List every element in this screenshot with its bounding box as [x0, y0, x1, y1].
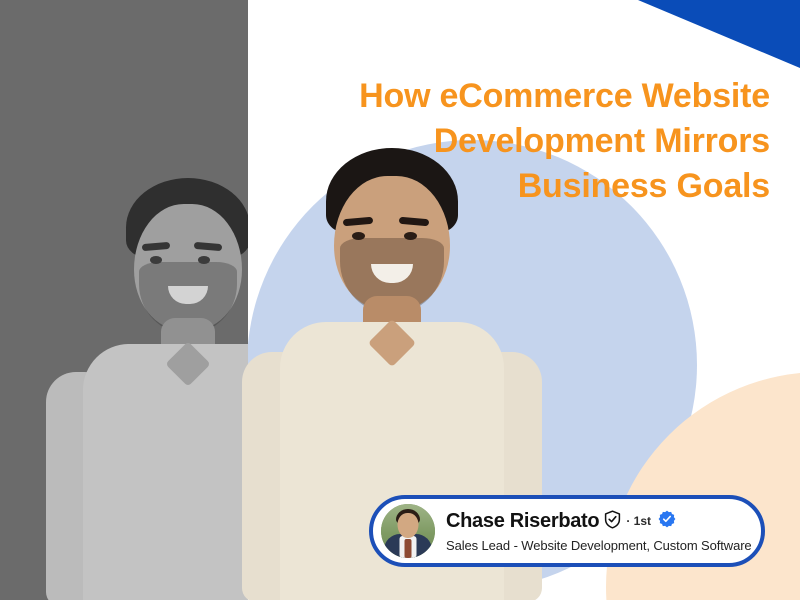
eye-right: [404, 232, 417, 240]
avatar-tie: [405, 539, 412, 558]
profile-name: Chase Riserbato: [446, 511, 599, 531]
profile-card[interactable]: Chase Riserbato · 1st Sales Lead - Websi…: [369, 495, 765, 567]
connection-degree: · 1st: [626, 515, 651, 527]
torso-shirt: [83, 344, 248, 600]
shield-check-icon: [604, 510, 621, 533]
page-title-line-1: How eCommerce Website: [300, 74, 770, 119]
page-title: How eCommerce Website Development Mirror…: [300, 74, 770, 210]
gray-photo-panel: [0, 0, 248, 600]
profile-text-block: Chase Riserbato · 1st Sales Lead - Websi…: [446, 510, 747, 553]
slide-canvas: How eCommerce Website Development Mirror…: [0, 0, 800, 600]
profile-subtitle: Sales Lead - Website Development, Custom…: [446, 538, 747, 553]
subject-photo-grayscale: [38, 170, 248, 600]
verified-badge-icon: [658, 510, 676, 532]
eye-left: [352, 232, 365, 240]
avatar: [381, 504, 435, 558]
eye-left: [150, 256, 162, 264]
eye-right: [198, 256, 210, 264]
page-title-line-3: Business Goals: [300, 164, 770, 209]
page-title-line-2: Development Mirrors: [300, 119, 770, 164]
profile-name-row: Chase Riserbato · 1st: [446, 510, 747, 533]
avatar-face: [398, 513, 419, 538]
